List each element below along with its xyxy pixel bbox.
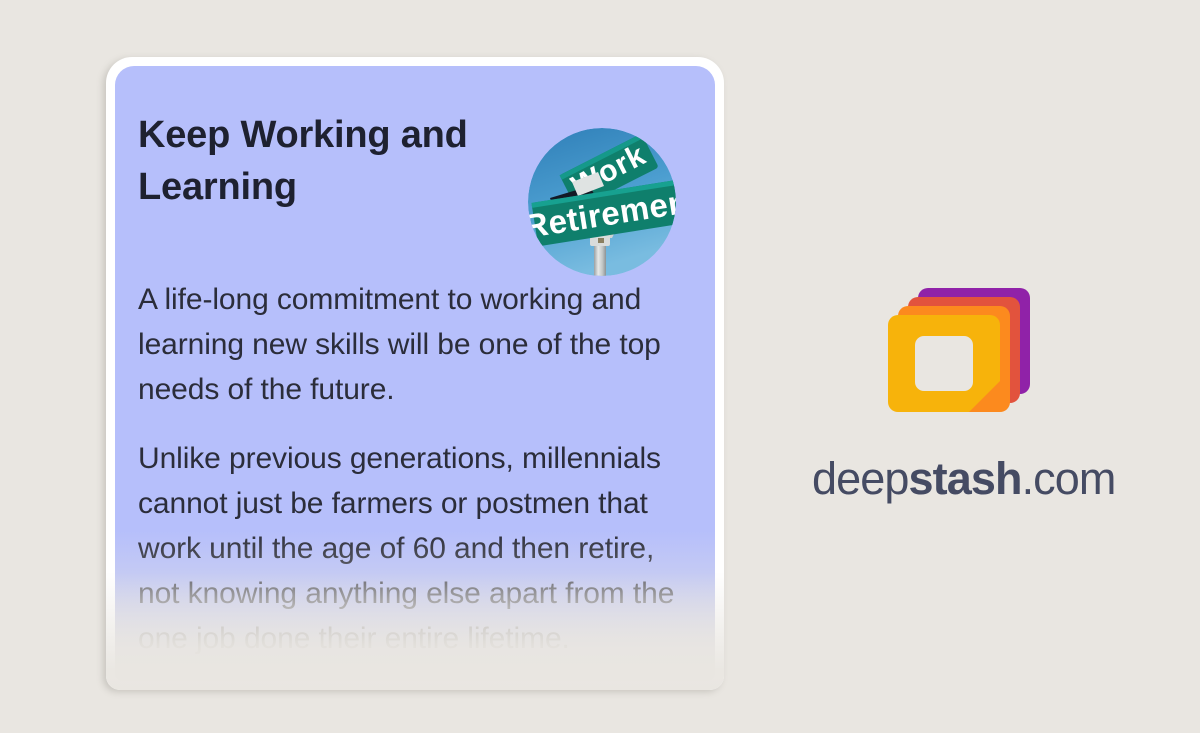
brand-block: deepstash.com xyxy=(812,283,1114,501)
body-paragraph: A life-long commitment to working and le… xyxy=(138,277,693,412)
brand-word-domain: .com xyxy=(1022,453,1116,504)
street-sign-photo: Work Retirement xyxy=(528,128,676,276)
brand-word-deep: deep xyxy=(812,453,909,504)
brand-wordmark: deepstash.com xyxy=(812,456,1114,501)
idea-card-content: Keep Working and Learning xyxy=(115,66,715,681)
deepstash-stacked-squares-logo xyxy=(888,283,1038,426)
card-header-row: Keep Working and Learning xyxy=(138,110,693,260)
card-body-text: A life-long commitment to working and le… xyxy=(138,277,693,661)
idea-card[interactable]: Keep Working and Learning xyxy=(106,57,724,690)
body-paragraph: Unlike previous generations, millennials… xyxy=(138,436,693,661)
brand-word-stash: stash xyxy=(909,453,1022,504)
idea-card-surface: Keep Working and Learning xyxy=(115,66,715,681)
page-title: Keep Working and Learning xyxy=(138,110,538,213)
